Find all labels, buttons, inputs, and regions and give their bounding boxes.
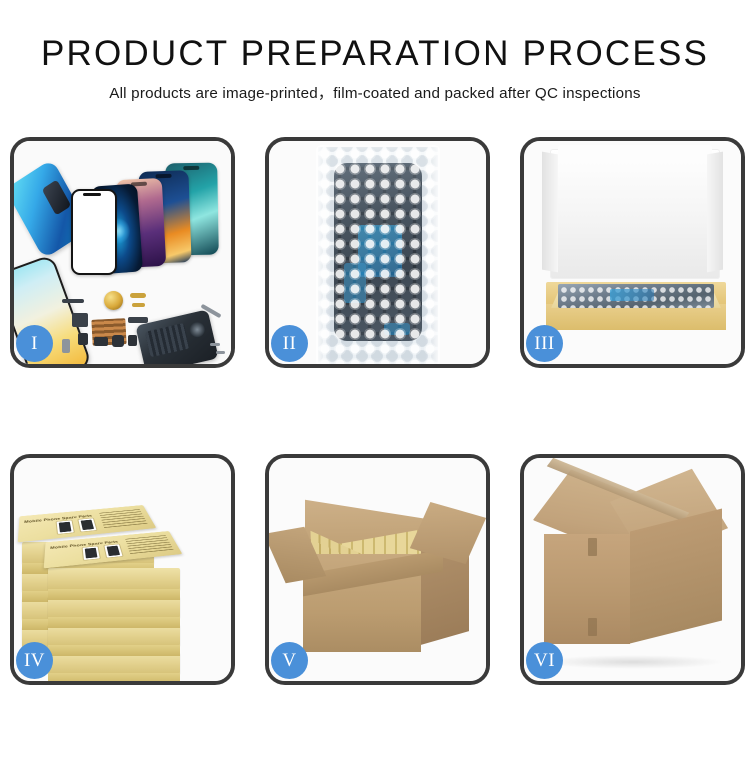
box-spec-lines — [99, 509, 148, 528]
screw-icon — [216, 351, 225, 354]
ribbon-cable-icon — [128, 317, 148, 323]
screw-icon — [210, 343, 220, 346]
gold-flex-icon — [130, 293, 146, 298]
carton-seam — [588, 538, 597, 556]
box-phone-image — [82, 546, 101, 561]
step-badge-4: IV — [16, 642, 53, 679]
sim-tray-icon — [94, 337, 108, 346]
box-phone-screen — [84, 547, 98, 558]
carton-ground-shadow — [542, 655, 724, 669]
connector-part-icon — [62, 339, 70, 353]
process-row-2: Mobile Phone Spare Parts Mobile Phone Sp… — [10, 454, 745, 685]
carton-seam — [588, 618, 597, 636]
retail-box — [48, 568, 180, 590]
speaker-coil-icon — [104, 291, 123, 310]
box-side — [48, 589, 180, 600]
phone-notch-icon — [156, 174, 172, 178]
process-step-panel-4[interactable]: Mobile Phone Spare Parts Mobile Phone Sp… — [10, 454, 235, 685]
flex-cable-icon — [62, 299, 84, 303]
inner-box-lid-left-flap — [542, 152, 558, 273]
small-part-icon — [72, 313, 88, 327]
inner-box-lid-right-flap — [707, 152, 723, 273]
step-badge-6: VI — [526, 642, 563, 679]
box-phone-screen — [106, 545, 120, 556]
inner-box-lid — [550, 149, 720, 279]
sealed-carton-front-face — [544, 534, 630, 644]
box-spec-lines — [125, 535, 174, 554]
process-step-panel-6[interactable]: VI — [520, 454, 745, 685]
box-side — [48, 617, 180, 628]
step-badge-2: II — [271, 325, 308, 362]
box-phone-image — [56, 520, 75, 535]
chip-part-icon — [128, 335, 137, 346]
sealed-carton-side-face — [630, 509, 722, 644]
process-step-panel-5[interactable]: V — [265, 454, 490, 685]
process-row-1: I II — [10, 137, 745, 368]
gold-button-icon — [132, 303, 145, 307]
tempered-glass-protector — [71, 189, 117, 275]
process-step-panel-1[interactable]: I — [10, 137, 235, 368]
box-phone-image — [77, 518, 97, 533]
box-side — [48, 673, 180, 681]
process-steps-grid: I II — [10, 137, 745, 771]
page-header: PRODUCT PREPARATION PROCESS All products… — [0, 0, 750, 101]
step-badge-3: III — [526, 325, 563, 362]
box-side — [48, 645, 180, 656]
bubble-wrapped-item-in-box — [558, 284, 714, 308]
phone-notch-icon — [183, 166, 199, 170]
box-phone-image — [103, 544, 123, 559]
button-part-icon — [78, 333, 88, 345]
process-step-panel-3[interactable]: III — [520, 137, 745, 368]
process-step-panel-2[interactable]: II — [265, 137, 490, 368]
page-title: PRODUCT PREPARATION PROCESS — [0, 36, 750, 71]
retail-box-stack: Mobile Phone Spare Parts Mobile Phone Sp… — [20, 476, 231, 676]
page-subtitle: All products are image-printed，film-coat… — [0, 86, 750, 101]
box-phone-screen — [80, 519, 94, 530]
box-phone-screen — [58, 521, 72, 532]
step-badge-5: V — [271, 642, 308, 679]
camera-module-icon — [112, 335, 124, 347]
step-badge-1: I — [16, 325, 53, 362]
bubble-wrap-edge-sheen — [316, 145, 440, 364]
